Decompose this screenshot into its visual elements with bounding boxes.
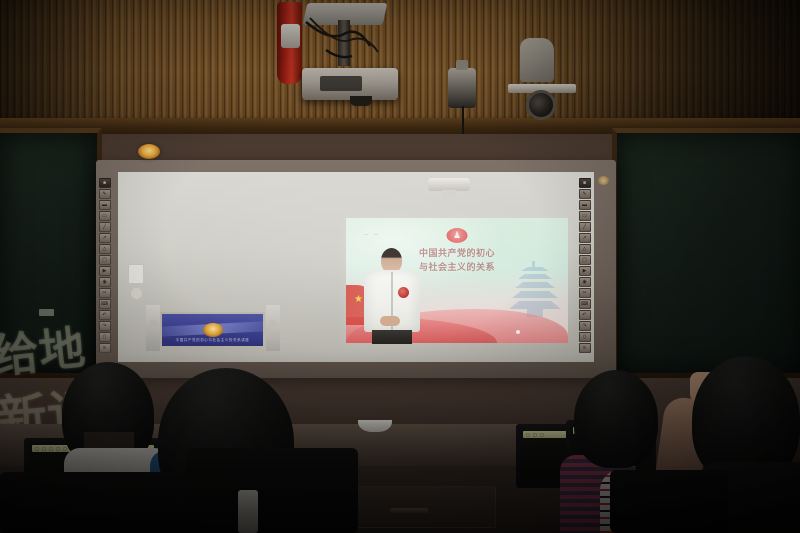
- lecturer-badge-icon: [397, 286, 410, 299]
- select-icon[interactable]: ▢: [579, 255, 591, 265]
- poster-speaker-right: [268, 320, 277, 329]
- fire-extinguisher-icon: [277, 2, 302, 84]
- chalk-eraser: [39, 309, 54, 316]
- shape-icon[interactable]: △: [579, 244, 591, 254]
- wood-slat-wall: [0, 0, 800, 128]
- wall-camera-large-housing: [520, 38, 554, 82]
- slide-title-line2: 与社会主义的关系: [419, 262, 495, 276]
- chair-back: [610, 470, 728, 533]
- poster-caption: 中国共产党的初心与社会主义的关系讲座: [176, 338, 250, 343]
- lecturer-trousers: [372, 330, 412, 344]
- pen-icon[interactable]: ✎: [579, 189, 591, 199]
- lecturer-hands: [380, 316, 400, 326]
- star-icon: ★: [354, 295, 363, 305]
- poster-emblem-icon: [203, 323, 223, 337]
- slide-title-line1: 中国共产党的初心: [419, 248, 495, 262]
- arrow-icon[interactable]: ↗: [99, 233, 111, 243]
- power-icon[interactable]: ■: [579, 178, 591, 188]
- chair-back: [186, 448, 358, 533]
- capture-icon[interactable]: ✂: [99, 288, 111, 298]
- eraser-icon[interactable]: ▭: [579, 211, 591, 221]
- chair-back: [0, 472, 214, 533]
- undo-icon[interactable]: ↶: [99, 310, 111, 320]
- birds-icon: ~ ~: [364, 232, 380, 239]
- undo-icon[interactable]: ↶: [579, 310, 591, 320]
- school-crest-icon-secondary: [598, 176, 609, 185]
- wall-camera-small: [448, 68, 476, 108]
- keyboard-icon[interactable]: ⌨: [579, 299, 591, 309]
- chalk-text-line1: 给地: [0, 324, 87, 379]
- slide-cursor-dot: [516, 330, 520, 334]
- water-bottle: [238, 490, 258, 533]
- pagoda-icon: [508, 259, 562, 317]
- arrow-icon[interactable]: ↗: [579, 233, 591, 243]
- menu-icon[interactable]: ≡: [99, 343, 111, 353]
- camera-lens-icon: [526, 90, 556, 120]
- blackboard-left: 给地 新记: [0, 128, 102, 378]
- redo-icon[interactable]: ↷: [579, 321, 591, 331]
- redo-icon[interactable]: ↷: [99, 321, 111, 331]
- highlighter-icon[interactable]: ▬: [579, 200, 591, 210]
- highlighter-icon[interactable]: ▬: [99, 200, 111, 210]
- school-crest-icon: [138, 144, 160, 159]
- pointer-icon[interactable]: ▶: [579, 266, 591, 276]
- projector-lens-icon: [350, 96, 372, 106]
- page-icon[interactable]: ▯: [579, 332, 591, 342]
- page-icon[interactable]: ▯: [99, 332, 111, 342]
- line-icon[interactable]: ╱: [99, 222, 111, 232]
- wall-shadow: [0, 0, 120, 128]
- shape-icon[interactable]: △: [99, 244, 111, 254]
- drawer-handle[interactable]: [390, 508, 428, 513]
- blackboard-right: [612, 128, 800, 378]
- whiteboard-toolbar-left[interactable]: ■✎▬▭╱↗△▢▶◉✂⌨↶↷▯≡: [98, 178, 111, 353]
- poster-speaker-left: [149, 320, 158, 329]
- party-emblem-icon: ♟: [447, 228, 468, 243]
- line-icon[interactable]: ╱: [579, 222, 591, 232]
- air-conditioner-icon: [428, 178, 470, 191]
- keyboard-icon[interactable]: ⌨: [99, 299, 111, 309]
- wall-switch-plate: [128, 264, 144, 284]
- select-icon[interactable]: ▢: [99, 255, 111, 265]
- whiteboard-toolbar-right[interactable]: ■✎▬▭╱↗△▢▶◉✂⌨↶↷▯≡: [578, 178, 591, 353]
- pen-icon[interactable]: ✎: [99, 189, 111, 199]
- spotlight-icon[interactable]: ◉: [99, 277, 111, 287]
- classroom-scene: 给地 新记 ■✎▬▭╱↗△▢▶◉✂⌨↶↷▯≡ ■✎▬▭╱↗△▢▶◉✂⌨↶↷▯≡ …: [0, 0, 800, 533]
- camera-cord: [462, 106, 464, 134]
- power-icon[interactable]: ■: [99, 178, 111, 188]
- projector-cables-icon: [300, 16, 390, 68]
- slide-title: 中国共产党的初心 与社会主义的关系: [419, 248, 495, 275]
- student-head: [574, 370, 658, 468]
- spotlight-icon[interactable]: ◉: [579, 277, 591, 287]
- capture-icon[interactable]: ✂: [579, 288, 591, 298]
- pointer-icon[interactable]: ▶: [99, 266, 111, 276]
- eraser-icon[interactable]: ▭: [99, 211, 111, 221]
- wall-knob-icon: [131, 288, 142, 299]
- menu-icon[interactable]: ≡: [579, 343, 591, 353]
- blue-banner-poster: 中国共产党的初心与社会主义的关系讲座: [160, 312, 265, 348]
